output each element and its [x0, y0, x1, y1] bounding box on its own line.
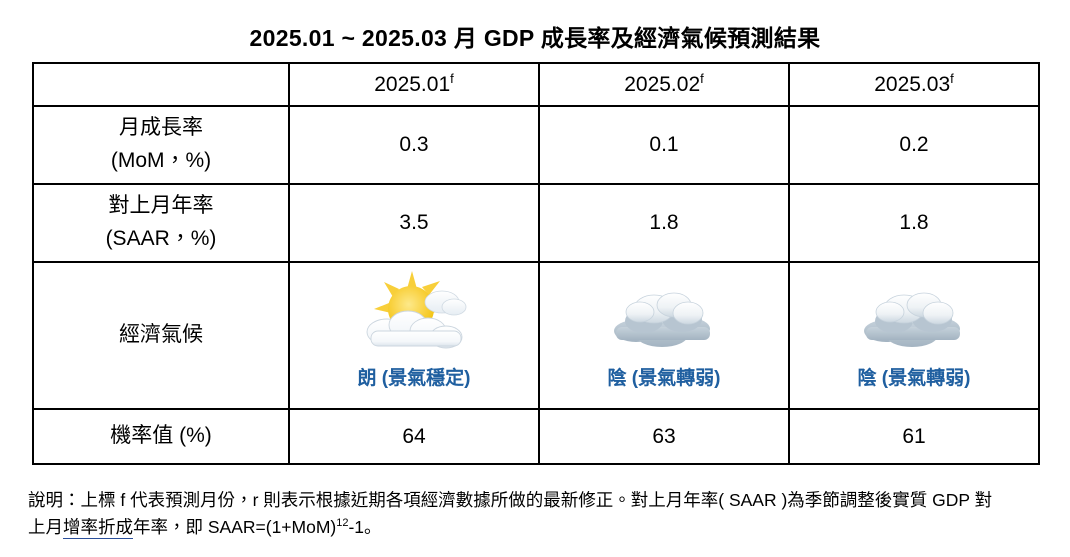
row-label-mom: 月成長率 (MoM，%)	[33, 106, 289, 184]
climate-label-2025-02: 陰 (景氣轉弱)	[608, 363, 721, 390]
climate-content-3: 陰 (景氣轉弱)	[790, 263, 1038, 408]
column-header-3-sup: f	[950, 71, 954, 86]
cell-probability-2025-01: 64	[289, 409, 539, 464]
page-title: 2025.01 ~ 2025.03 月 GDP 成長率及經濟氣候預測結果	[0, 26, 1070, 51]
overcast-cloud-icon	[854, 269, 974, 361]
footnote: 說明：上標 f 代表預測月份，r 則表示根據近期各項經濟數據所做的最新修正。對上…	[28, 487, 1048, 541]
row-label-climate: 經濟氣候	[33, 262, 289, 409]
overcast-cloud-icon	[604, 269, 724, 361]
footnote-line-2: 上月增率折成年率，即 SAAR=(1+MoM)12-1。	[28, 514, 1048, 541]
row-label-saar-line2: (SAAR，%)	[34, 223, 288, 256]
row-label-mom-line2: (MoM，%)	[34, 145, 288, 178]
report-page: 2025.01 ~ 2025.03 月 GDP 成長率及經濟氣候預測結果 202…	[0, 0, 1070, 557]
cell-mom-2025-03: 0.2	[789, 106, 1039, 184]
table-row-saar: 對上月年率 (SAAR，%) 3.5 1.8 1.8	[33, 184, 1039, 262]
climate-content-1: 朗 (景氣穩定)	[290, 263, 538, 408]
cell-mom-2025-01: 0.3	[289, 106, 539, 184]
cell-saar-2025-02: 1.8	[539, 184, 789, 262]
cell-saar-2025-01: 3.5	[289, 184, 539, 262]
table-row-climate: 經濟氣候	[33, 262, 1039, 409]
cell-climate-2025-03: 陰 (景氣轉弱)	[789, 262, 1039, 409]
column-header-3-base: 2025.03	[874, 73, 950, 96]
forecast-table: 2025.01f 2025.02f 2025.03f 月成長率 (MoM，%)	[32, 62, 1040, 465]
footnote-line-1: 說明：上標 f 代表預測月份，r 則表示根據近期各項經濟數據所做的最新修正。對上…	[28, 487, 1048, 514]
row-label-probability: 機率值 (%)	[33, 409, 289, 464]
column-header-2: 2025.02f	[539, 63, 789, 106]
table-row-probability: 機率值 (%) 64 63 61	[33, 409, 1039, 464]
sun-behind-cloud-icon	[354, 269, 474, 361]
cell-probability-2025-03: 61	[789, 409, 1039, 464]
footnote-exponent: 12	[336, 517, 348, 529]
footnote-line-2-prefix: 上月	[28, 517, 63, 537]
climate-label-2025-01: 朗 (景氣穩定)	[358, 363, 471, 390]
table-header-row: 2025.01f 2025.02f 2025.03f	[33, 63, 1039, 106]
column-header-1: 2025.01f	[289, 63, 539, 106]
climate-label-2025-03: 陰 (景氣轉弱)	[858, 363, 971, 390]
column-header-1-base: 2025.01	[374, 73, 450, 96]
table-corner-cell	[33, 63, 289, 106]
footnote-line-2-suffix: -1。	[348, 517, 381, 537]
cell-mom-2025-02: 0.1	[539, 106, 789, 184]
climate-content-2: 陰 (景氣轉弱)	[540, 263, 788, 408]
footnote-line-2-mid: 年率，即 SAAR=(1+MoM)	[133, 517, 336, 537]
column-header-2-base: 2025.02	[624, 73, 700, 96]
cell-climate-2025-01: 朗 (景氣穩定)	[289, 262, 539, 409]
row-label-saar-line1: 對上月年率	[34, 190, 288, 223]
cell-climate-2025-02: 陰 (景氣轉弱)	[539, 262, 789, 409]
row-label-saar: 對上月年率 (SAAR，%)	[33, 184, 289, 262]
forecast-table-wrapper: 2025.01f 2025.02f 2025.03f 月成長率 (MoM，%)	[32, 62, 1038, 465]
column-header-2-sup: f	[700, 71, 704, 86]
cell-probability-2025-02: 63	[539, 409, 789, 464]
row-label-mom-line1: 月成長率	[34, 112, 288, 145]
cell-saar-2025-03: 1.8	[789, 184, 1039, 262]
table-row-mom: 月成長率 (MoM，%) 0.3 0.1 0.2	[33, 106, 1039, 184]
column-header-1-sup: f	[450, 71, 454, 86]
column-header-3: 2025.03f	[789, 63, 1039, 106]
footnote-misspelled-phrase: 增率折成	[63, 517, 133, 539]
